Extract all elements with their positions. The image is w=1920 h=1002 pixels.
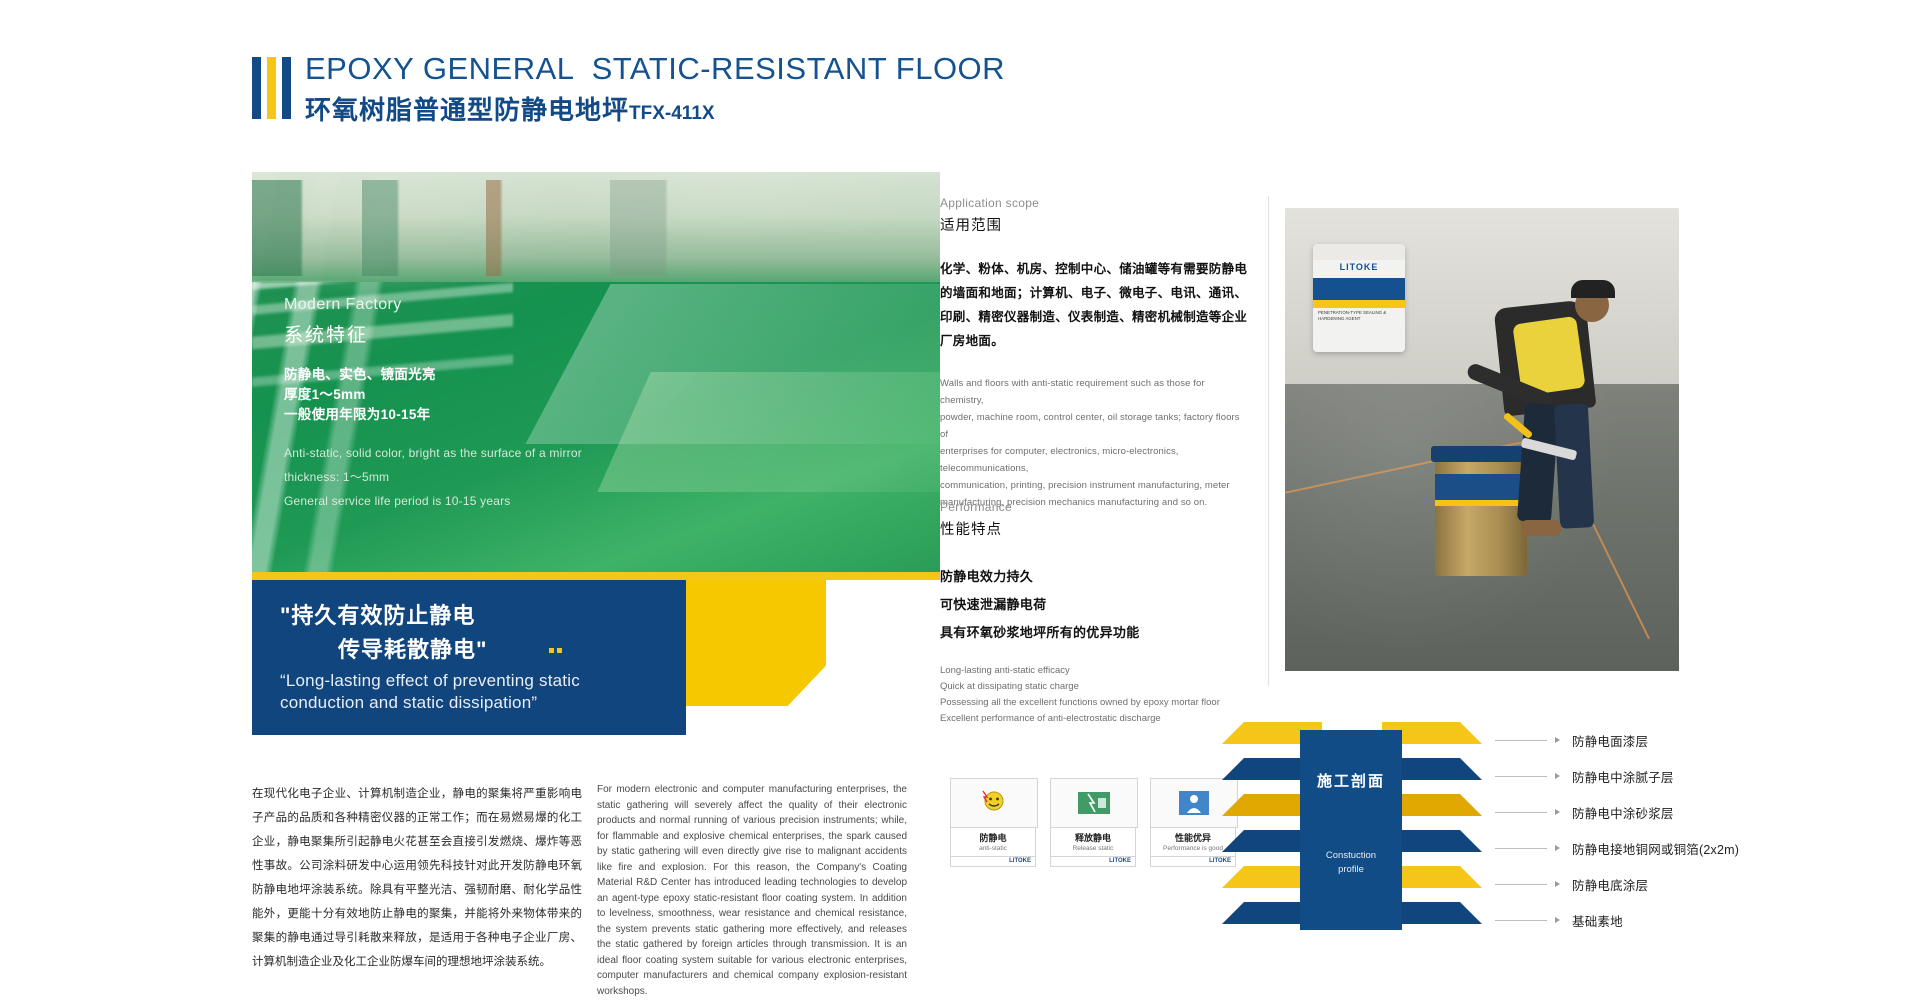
brand-label: LITOKE [950,857,1036,867]
hero-light-beam-2 [597,372,940,492]
legend-row: 防静电中涂砂浆层 [1495,794,1825,830]
mixing-pail [1435,454,1527,576]
intro-paragraph-cn: 在现代化电子企业、计算机制造企业，静电的聚集将严重影响电子产品的品质和各种精密仪… [252,782,582,974]
performance-item-cn: 可快速泄漏静电荷 [940,591,1250,619]
diagram-center-title-cn: 施工剖面 [1300,770,1402,791]
worker-foot [1521,520,1561,536]
performance-item-en: Quick at dissipating static charge [940,679,1250,695]
quote-cn-line2: 传导耗散静电" [338,632,487,664]
application-line-cn: 印刷、精密仪器制造、仪表制造、精密机械制造等企业 [940,305,1250,329]
quote-dots-icon [549,648,562,653]
hero-overlay-text: Modern Factory 系统特征 防静电、实色、镜面光亮 厚度1～5mm … [284,296,582,513]
hero-heading-en: Modern Factory [284,296,582,314]
product-code: TFX-411X [629,103,715,125]
legend-row: 防静电接地铜网或铜箔(2x2m) [1495,830,1825,866]
performance-items-cn: 防静电效力持久 可快速泄漏静电荷 具有环氧砂浆地坪所有的优异功能 [940,563,1250,647]
diagram-center-block: 施工剖面 Constuction profile [1300,730,1402,930]
feature-card: 释放静电 Release static LITOKE [1050,778,1136,867]
hero-feature-cn: 一般使用年限为10-15年 [284,405,582,425]
arrow-icon [1555,845,1560,851]
feature-card-cn: 防静电 [951,832,1035,844]
application-scope-section: Application scope 适用范围 化学、粉体、机房、控制中心、储油罐… [940,196,1250,511]
application-line-en: communication, printing, precision instr… [940,477,1250,494]
legend-label: 防静电面漆层 [1572,731,1648,750]
worker-cap [1571,280,1615,298]
quote-en: “Long-lasting effect of preventing stati… [280,670,610,714]
hero-heading-cn: 系统特征 [284,320,582,347]
application-label-en: Application scope [940,196,1250,210]
feature-card: 防静电 anti-static LITOKE [950,778,1036,867]
hero-feature-en: General service life period is 10-15 yea… [284,489,582,513]
feature-card-en: anti-static [951,844,1035,853]
application-line-en: powder, machine room, control center, oi… [940,409,1250,443]
release-static-icon [1050,778,1138,828]
quote-box: "持久有效防止静电 传导耗散静电" “Long-lasting effect o… [252,580,686,735]
arrow-icon [1555,917,1560,923]
performance-item-cn: 具有环氧砂浆地坪所有的优异功能 [940,619,1250,647]
legend-row: 防静电面漆层 [1495,722,1825,758]
column-divider [1268,196,1269,686]
hero-factory-photo: Modern Factory 系统特征 防静电、实色、镜面光亮 厚度1～5mm … [252,172,940,572]
hero-feature-en: thickness: 1～5mm [284,465,582,489]
application-text-en: Walls and floors with anti-static requir… [940,375,1250,511]
legend-label: 防静电中涂砂浆层 [1572,803,1674,822]
hero-doors [252,180,940,276]
page-title-cn: 环氧树脂普通型防静电地坪 [305,90,629,127]
application-line-cn: 的墙面和地面；计算机、电子、微电子、电讯、通讯、 [940,281,1250,305]
construction-profile-diagram: 施工剖面 Constuction profile [1222,722,1482,937]
performance-item-en: Long-lasting anti-static efficacy [940,663,1250,679]
hero-feature-cn: 防静电、实色、镜面光亮 [284,365,582,385]
hero-yellow-strip [252,572,940,580]
legend-label: 防静电接地铜网或铜箔(2x2m) [1572,839,1739,858]
arrow-icon [1555,809,1560,815]
legend-label: 防静电中涂腻子层 [1572,767,1674,786]
brochure-page: EPOXY GENERAL STATIC-RESISTANT FLOOR 环氧树… [0,0,1920,1002]
page-header: EPOXY GENERAL STATIC-RESISTANT FLOOR 环氧树… [252,52,1152,127]
diagram-legend: 防静电面漆层 防静电中涂腻子层 防静电中涂砂浆层 防静电接地铜网或铜箔(2x2m… [1495,722,1825,938]
hero-features-en: Anti-static, solid color, bright as the … [284,441,582,513]
application-line-cn: 化学、粉体、机房、控制中心、储油罐等有需要防静电 [940,257,1250,281]
legend-row: 基础素地 [1495,902,1825,938]
hero-features-cn: 防静电、实色、镜面光亮 厚度1～5mm 一般使用年限为10-15年 [284,365,582,425]
feature-card-cn: 释放静电 [1051,832,1135,844]
feature-card-en: Release static [1051,844,1135,853]
performance-items-en: Long-lasting anti-static efficacy Quick … [940,663,1250,727]
performance-label-en: Performance [940,500,1250,514]
arrow-icon [1555,737,1560,743]
diagram-center-title-en: Constuction [1300,850,1402,861]
hero-feature-cn: 厚度1～5mm [284,385,582,405]
worker-application-photo: LITOKE PENETRATION-TYPE SEALING & HARDEN… [1285,208,1679,671]
application-line-en: Walls and floors with anti-static requir… [940,375,1250,409]
arrow-icon [1555,773,1560,779]
quote-cn-line1: "持久有效防止静电 [280,598,475,630]
application-text-cn: 化学、粉体、机房、控制中心、储油罐等有需要防静电 的墙面和地面；计算机、电子、微… [940,257,1250,353]
application-label-cn: 适用范围 [940,214,1250,235]
brand-label: LITOKE [1050,857,1136,867]
arrow-icon [1555,881,1560,887]
performance-label-cn: 性能特点 [940,518,1250,539]
diagram-center-title-en2: profile [1300,864,1402,875]
performance-item-en: Possessing all the excellent functions o… [940,695,1250,711]
legend-label: 防静电底涂层 [1572,875,1648,894]
performance-section: Performance 性能特点 防静电效力持久 可快速泄漏静电荷 具有环氧砂浆… [940,500,1250,727]
anti-static-icon [950,778,1038,828]
hero-feature-en: Anti-static, solid color, bright as the … [284,441,582,465]
feature-cards: 防静电 anti-static LITOKE 释放静电 Release stat… [950,778,1236,867]
performance-item-en: Excellent performance of anti-electrosta… [940,711,1250,727]
legend-label: 基础素地 [1572,911,1623,930]
brand-bars-icon [252,57,291,119]
legend-row: 防静电底涂层 [1495,866,1825,902]
feature-card-label: 防静电 anti-static [950,828,1036,857]
page-title-en: EPOXY GENERAL STATIC-RESISTANT FLOOR [305,52,1005,86]
performance-item-cn: 防静电效力持久 [940,563,1250,591]
legend-row: 防静电中涂腻子层 [1495,758,1825,794]
feature-card-label: 释放静电 Release static [1050,828,1136,857]
intro-paragraph-en: For modern electronic and computer manuf… [597,782,907,999]
application-line-cn: 厂房地面。 [940,329,1250,353]
paint-bucket: LITOKE PENETRATION-TYPE SEALING & HARDEN… [1313,244,1405,352]
worker-leg [1554,403,1594,529]
application-line-en: enterprises for computer, electronics, m… [940,443,1250,477]
